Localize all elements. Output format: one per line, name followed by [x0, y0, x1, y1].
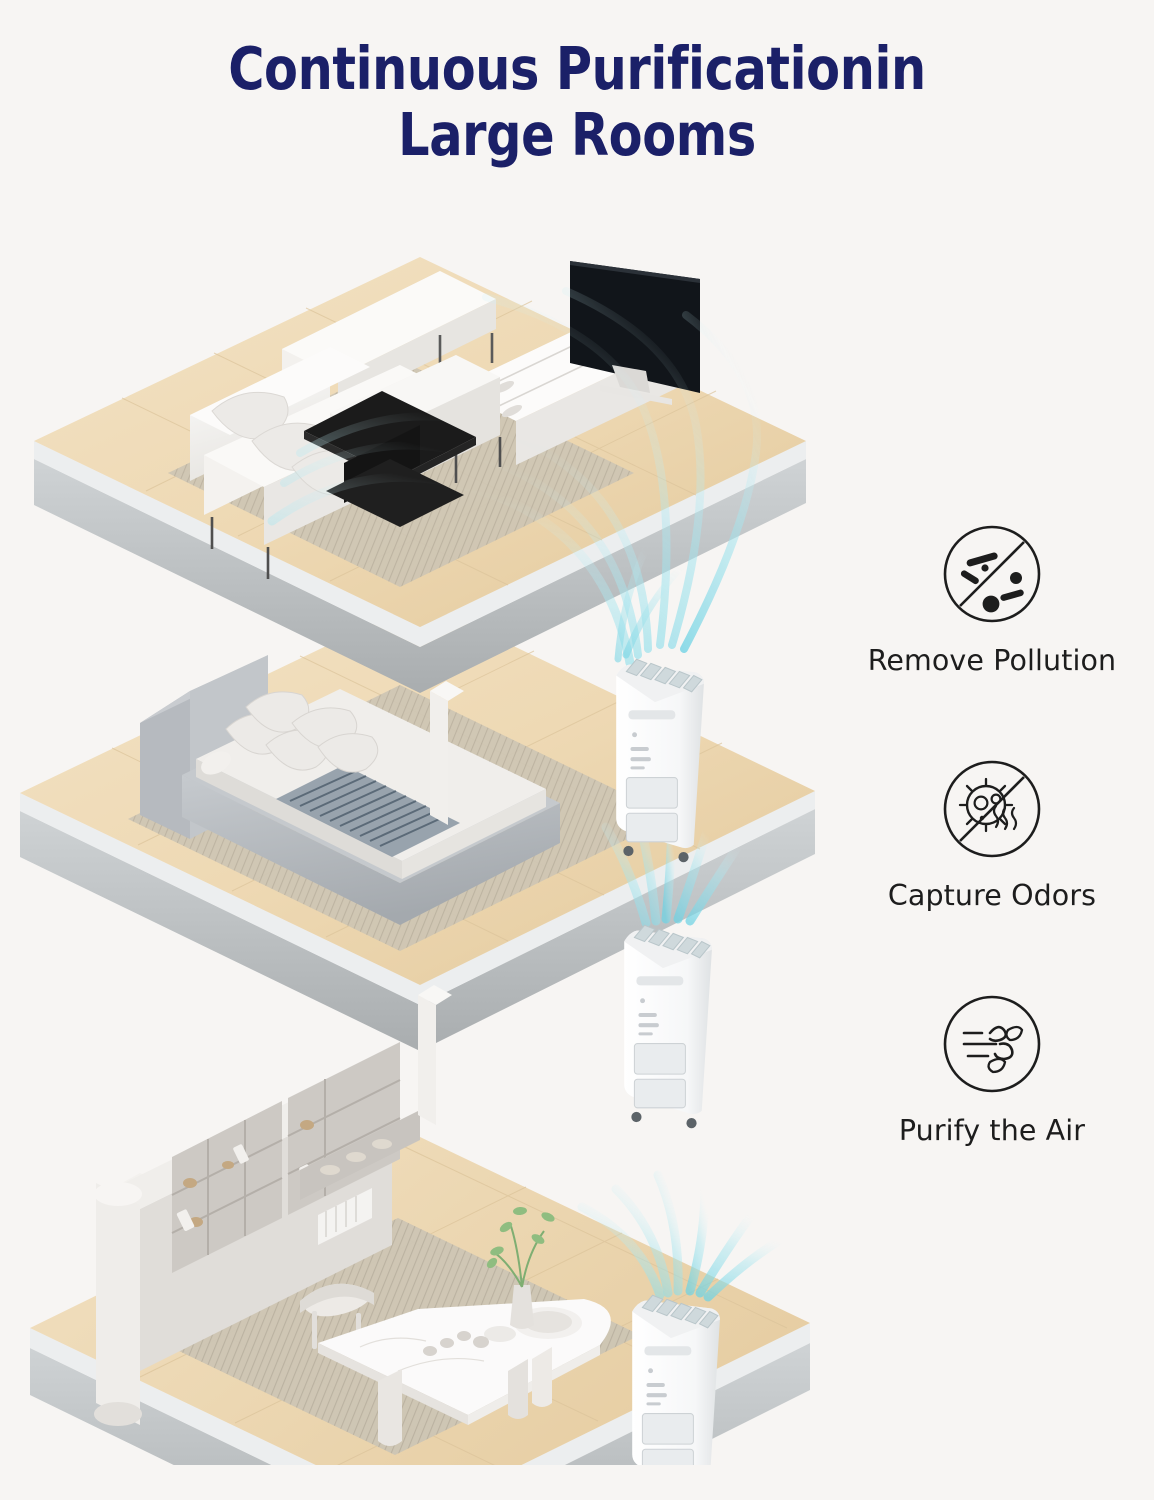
- headline-line-1: Continuous Purificationin: [228, 34, 926, 103]
- feature-item-capture-odors: Capture Odors: [830, 755, 1154, 912]
- feature-list: Remove Pollution: [830, 520, 1154, 1147]
- page-title: Continuous Purificationin Large Rooms: [40, 36, 1113, 168]
- feature-item-purify-the-air: Purify the Air: [830, 990, 1154, 1147]
- feature-item-remove-pollution: Remove Pollution: [830, 520, 1154, 677]
- air-purifier-bedroom: [624, 925, 712, 1128]
- no-pollution-icon: [938, 520, 1046, 628]
- isometric-rooms-illustration: [0, 215, 920, 1465]
- feature-label: Purify the Air: [830, 1114, 1154, 1147]
- room-scene: [0, 215, 920, 1455]
- air-purifier-living: [616, 659, 704, 862]
- air-purifier-dining: [632, 1295, 720, 1465]
- feature-label: Remove Pollution: [830, 644, 1154, 677]
- feature-label: Capture Odors: [830, 879, 1154, 912]
- no-odor-germ-icon: [938, 755, 1046, 863]
- headline-line-2: Large Rooms: [40, 102, 1113, 168]
- wind-leaves-icon: [938, 990, 1046, 1098]
